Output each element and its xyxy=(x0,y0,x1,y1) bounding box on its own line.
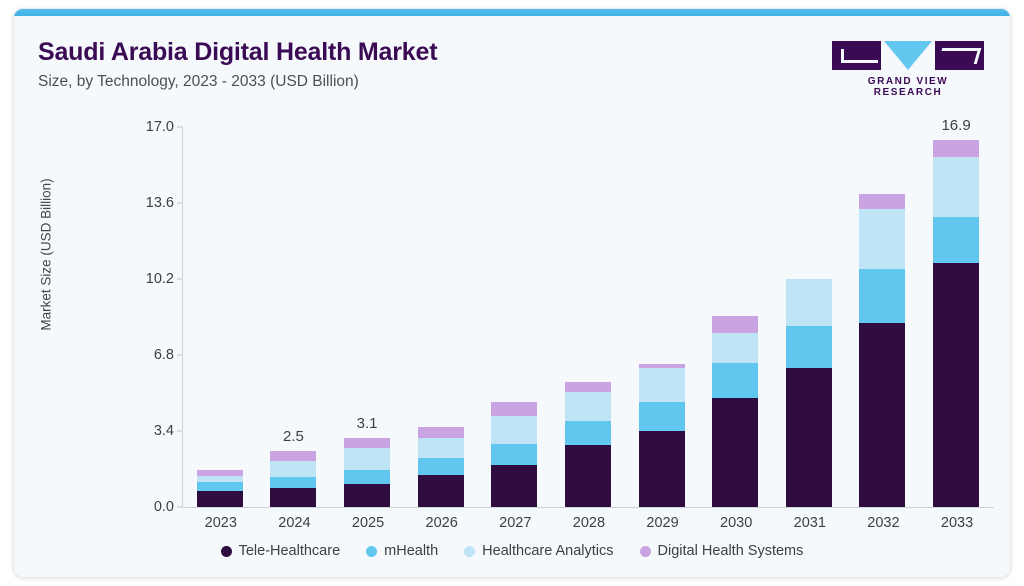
bar-column[interactable] xyxy=(639,127,685,507)
x-axis-tick-label: 2031 xyxy=(770,515,850,531)
bar-segment[interactable] xyxy=(712,398,758,507)
bar-segment[interactable] xyxy=(491,402,537,417)
legend-item[interactable]: Tele-Healthcare xyxy=(221,543,341,559)
y-axis-tick-label: 3.4 xyxy=(108,423,174,439)
bar-column[interactable]: 16.9 xyxy=(933,127,979,507)
bar-segment[interactable] xyxy=(933,263,979,507)
bar-segment[interactable] xyxy=(344,448,390,469)
legend-item[interactable]: Digital Health Systems xyxy=(640,543,804,559)
y-axis-tick-label: 17.0 xyxy=(108,119,174,135)
bar-segment[interactable] xyxy=(197,476,243,483)
bar-segment[interactable] xyxy=(491,465,537,507)
bar-segment[interactable] xyxy=(859,323,905,507)
bar-column[interactable] xyxy=(491,127,537,507)
bar-segment[interactable] xyxy=(418,475,464,507)
legend-label: mHealth xyxy=(384,543,438,559)
bar-column[interactable] xyxy=(712,127,758,507)
bar-segment[interactable] xyxy=(344,484,390,507)
x-axis-tick-label: 2025 xyxy=(328,515,408,531)
x-axis-tick-label: 2027 xyxy=(475,515,555,531)
bar-segment[interactable] xyxy=(933,157,979,217)
bar-column[interactable] xyxy=(565,127,611,507)
bar-segment[interactable] xyxy=(639,402,685,431)
bar-segment[interactable] xyxy=(859,269,905,323)
x-axis-tick-label: 2033 xyxy=(917,515,997,531)
bar-segment[interactable] xyxy=(565,382,611,392)
bar-segment[interactable] xyxy=(344,438,390,449)
bar-column[interactable] xyxy=(786,127,832,507)
bar-value-label: 2.5 xyxy=(283,428,304,445)
x-axis-tick-label: 2024 xyxy=(254,515,334,531)
x-axis-tick-label: 2028 xyxy=(549,515,629,531)
bar-segment[interactable] xyxy=(418,427,464,438)
bar-segment[interactable] xyxy=(639,368,685,402)
bar-segment[interactable] xyxy=(786,279,832,326)
bar-group: 2.53.116.9 xyxy=(183,127,993,507)
bar-segment[interactable] xyxy=(270,488,316,507)
bar-segment[interactable] xyxy=(933,217,979,263)
bar-segment[interactable] xyxy=(491,416,537,444)
bar-value-label: 3.1 xyxy=(357,415,378,432)
bar-segment[interactable] xyxy=(859,194,905,209)
bar-segment[interactable] xyxy=(565,421,611,445)
x-axis-tick-label: 2023 xyxy=(181,515,261,531)
bar-column[interactable]: 2.5 xyxy=(270,127,316,507)
x-axis-line xyxy=(182,507,994,508)
legend-color-dot-icon xyxy=(221,546,232,557)
bar-segment[interactable] xyxy=(786,368,832,507)
y-axis-tick-label: 10.2 xyxy=(108,271,174,287)
bar-segment[interactable] xyxy=(344,470,390,484)
legend-item[interactable]: mHealth xyxy=(366,543,438,559)
bar-segment[interactable] xyxy=(418,438,464,459)
bar-column[interactable] xyxy=(197,127,243,507)
bar-column[interactable] xyxy=(418,127,464,507)
bar-segment[interactable] xyxy=(565,392,611,421)
legend-item[interactable]: Healthcare Analytics xyxy=(464,543,613,559)
bar-segment[interactable] xyxy=(933,140,979,157)
y-axis-tick-label: 13.6 xyxy=(108,195,174,211)
legend-label: Digital Health Systems xyxy=(658,543,804,559)
bar-segment[interactable] xyxy=(859,209,905,269)
bar-segment[interactable] xyxy=(565,445,611,507)
chart-card: Saudi Arabia Digital Health Market Size,… xyxy=(13,8,1011,578)
legend-color-dot-icon xyxy=(464,546,475,557)
bar-segment[interactable] xyxy=(270,461,316,477)
x-axis-tick-label: 2026 xyxy=(402,515,482,531)
bar-column[interactable] xyxy=(859,127,905,507)
legend-color-dot-icon xyxy=(366,546,377,557)
bar-segment[interactable] xyxy=(712,316,758,333)
bar-segment[interactable] xyxy=(639,431,685,507)
legend-color-dot-icon xyxy=(640,546,651,557)
y-axis-title: Market Size (USD Billion) xyxy=(39,125,54,385)
y-axis-tick-label: 6.8 xyxy=(108,347,174,363)
bar-segment[interactable] xyxy=(197,482,243,491)
legend-label: Healthcare Analytics xyxy=(482,543,613,559)
bar-segment[interactable] xyxy=(197,491,243,507)
x-axis-tick-label: 2029 xyxy=(623,515,703,531)
bar-segment[interactable] xyxy=(712,333,758,364)
bar-segment[interactable] xyxy=(786,326,832,368)
bar-segment[interactable] xyxy=(270,451,316,461)
chart-legend: Tele-HealthcaremHealthHealthcare Analyti… xyxy=(14,543,1010,559)
bar-segment[interactable] xyxy=(270,477,316,489)
bar-segment[interactable] xyxy=(491,444,537,465)
x-axis-tick-label: 2030 xyxy=(696,515,776,531)
plot-area: Market Size (USD Billion) 0.03.46.810.21… xyxy=(14,9,1010,577)
bar-column[interactable]: 3.1 xyxy=(344,127,390,507)
bar-segment[interactable] xyxy=(418,458,464,475)
legend-label: Tele-Healthcare xyxy=(239,543,341,559)
bar-segment[interactable] xyxy=(712,363,758,398)
y-axis-tick-label: 0.0 xyxy=(108,499,174,515)
x-axis-tick-label: 2032 xyxy=(843,515,923,531)
bar-value-label: 16.9 xyxy=(941,117,970,134)
